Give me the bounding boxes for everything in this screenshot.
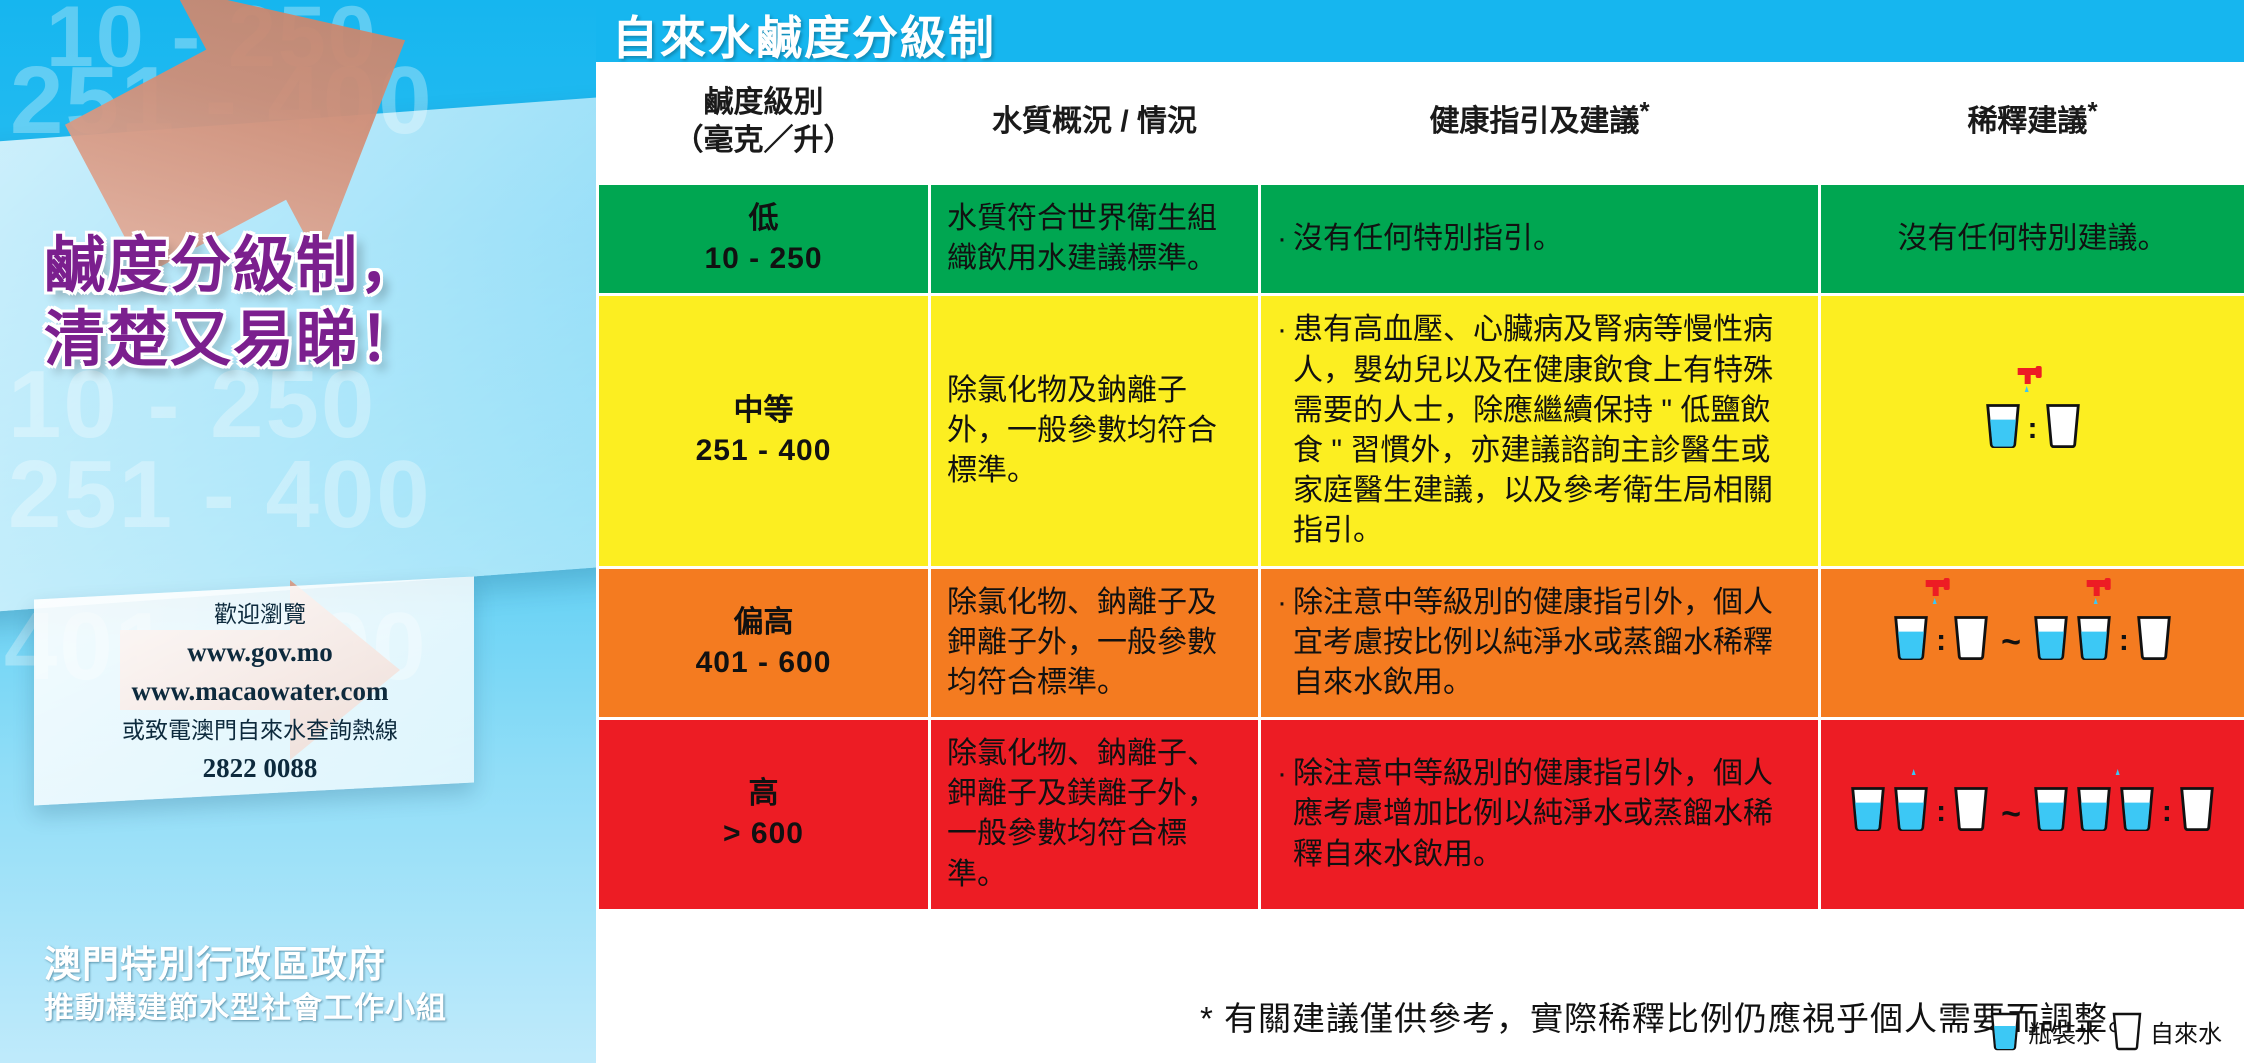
cell-health-low: ·沒有任何特別指引。 (1260, 184, 1820, 295)
ratio-group: : (1891, 614, 1991, 672)
level-name-low: 低 (615, 199, 912, 239)
welcome-label: 歡迎瀏覽 (60, 598, 460, 631)
ratio-group: : (2031, 614, 2174, 672)
legend: 瓶裝水 自來水 (1988, 1011, 2222, 1051)
title-bar: 自來水鹹度分級制 (596, 0, 2244, 62)
ratio-group: : (2031, 785, 2217, 843)
header-health: 健康指引及建議* (1260, 62, 1820, 184)
bullet-marker: · (1277, 754, 1293, 794)
left-panel: 10 - 250 251 - 400 10 - 250 251 - 400 40… (0, 0, 612, 1063)
bottled-water-cup-icon (1848, 785, 1888, 832)
cell-quality-very-high: 除氯化物、鈉離子、鉀離子及鎂離子外，一般參數均符合標準。 (930, 719, 1260, 911)
legend-tap: 自來水 (2110, 1011, 2222, 1051)
header-quality: 水質概況 / 情況 (930, 62, 1260, 184)
level-name-high: 偏高 (615, 603, 912, 643)
cell-dilution-medium: : (1820, 295, 2244, 567)
table-row: 偏高 401 - 600 除氯化物、鈉離子及鉀離子外，一般參數均符合標準。 ·除… (598, 567, 2244, 719)
tap-water-cup-icon (1951, 785, 1991, 832)
header-health-asterisk: * (1639, 96, 1649, 126)
website-gov-mo[interactable]: www.gov.mo (60, 633, 460, 672)
ratio-separator: ~ (1997, 792, 2025, 838)
faucet-icon (1900, 745, 1946, 785)
faucet-icon-wrap (1922, 574, 1968, 625)
health-text-medium: 患有高血壓、心臟病及腎病等慢性病人，嬰幼兒以及在健康飲食上有特殊需要的人士，除應… (1293, 310, 1800, 551)
level-name-very-high: 高 (615, 774, 912, 814)
legend-bottled: 瓶裝水 (1988, 1011, 2100, 1051)
faucet-icon (2083, 574, 2129, 614)
faucet-icon-wrap (2083, 574, 2129, 625)
level-range-high: 401 - 600 (615, 643, 912, 683)
faucet-icon-wrap (1900, 745, 1946, 796)
table-row: 中等 251 - 400 除氯化物及鈉離子外，一般參數均符合標準。 ·患有高血壓… (598, 295, 2244, 567)
ratio-colon: : (1934, 792, 1948, 832)
ratio-colon: : (1934, 621, 1948, 661)
table-row: 高 > 600 除氯化物、鈉離子、鉀離子及鎂離子外，一般參數均符合標準。 ·除注… (598, 719, 2244, 911)
header-health-label: 健康指引及建議 (1429, 105, 1639, 138)
government-footer: 澳門特別行政區政府 推動構建節水型社會工作小組 (44, 941, 447, 1029)
faucet-icon (2105, 745, 2151, 785)
table-row: 低 10 - 250 水質符合世界衛生組織飲用水建議標準。 ·沒有任何特別指引。… (598, 184, 2244, 295)
tap-water-cup-icon (2177, 785, 2217, 832)
poster-root: 10 - 250 251 - 400 10 - 250 251 - 400 40… (0, 0, 2244, 1063)
cell-level-very-high: 高 > 600 (598, 719, 930, 911)
left-headline: 鹹度分級制， 清楚又易睇！ (44, 228, 584, 377)
ratio-colon: : (2160, 792, 2174, 832)
gov-line-1: 澳門特別行政區政府 (44, 941, 447, 990)
faucet-icon-wrap (2013, 362, 2059, 413)
tap-water-cup-icon (2110, 1011, 2144, 1051)
cell-dilution-high: :~: (1820, 567, 2244, 719)
ratio-group: : (1983, 402, 2083, 460)
info-text-block: 歡迎瀏覽 www.gov.mo www.macaowater.com 或致電澳門… (60, 598, 460, 788)
cell-quality-medium: 除氯化物及鈉離子外，一般參數均符合標準。 (930, 295, 1260, 567)
headline-line-2: 清楚又易睇！ (44, 302, 584, 376)
bottled-water-cup-icon (1988, 1011, 2022, 1051)
salinity-classification-table: 鹹度級別 （毫克／升） 水質概況 / 情況 健康指引及建議* 稀釋建議* (596, 62, 2244, 912)
cell-dilution-very-high: :~: (1820, 719, 2244, 911)
page-title: 自來水鹹度分級制 (612, 2, 996, 68)
level-range-medium: 251 - 400 (615, 431, 912, 471)
legend-tap-label: 自來水 (2150, 1014, 2222, 1049)
cell-health-very-high: ·除注意中等級別的健康指引外，個人應考慮增加比例以純淨水或蒸餾水稀釋自來水飲用。 (1260, 719, 1820, 911)
table-body: 低 10 - 250 水質符合世界衛生組織飲用水建議標準。 ·沒有任何特別指引。… (598, 184, 2244, 911)
tap-water-cup-icon (2134, 614, 2174, 661)
bullet-marker: · (1277, 310, 1293, 350)
cell-level-high: 偏高 401 - 600 (598, 567, 930, 719)
header-level-line2: （毫克／升） (674, 124, 854, 157)
faucet-icon (1922, 574, 1968, 614)
gov-line-2: 推動構建節水型社會工作小組 (44, 989, 447, 1029)
ratio-colon: : (2026, 409, 2040, 449)
header-level: 鹹度級別 （毫克／升） (598, 62, 930, 184)
cell-dilution-low: 沒有任何特別建議。 (1820, 184, 2244, 295)
cell-quality-high: 除氯化物、鈉離子及鉀離子外，一般參數均符合標準。 (930, 567, 1260, 719)
health-text-low: 沒有任何特別指引。 (1293, 219, 1800, 259)
hotline-number[interactable]: 2822 0088 (60, 749, 460, 788)
faucet-icon-wrap (2105, 745, 2151, 796)
cell-level-low: 低 10 - 250 (598, 184, 930, 295)
header-dilution-asterisk: * (2087, 96, 2097, 126)
website-macaowater[interactable]: www.macaowater.com (60, 672, 460, 711)
cell-level-medium: 中等 251 - 400 (598, 295, 930, 567)
header-dilution: 稀釋建議* (1820, 62, 2244, 184)
health-text-very-high: 除注意中等級別的健康指引外，個人應考慮增加比例以純淨水或蒸餾水稀釋自來水飲用。 (1293, 754, 1800, 875)
dilution-ratio-high: :~: (1837, 614, 2228, 672)
legend-bottled-label: 瓶裝水 (2028, 1014, 2100, 1049)
table-head: 鹹度級別 （毫克／升） 水質概況 / 情況 健康指引及建議* 稀釋建議* (598, 62, 2244, 184)
headline-line-1: 鹹度分級制， (44, 228, 584, 302)
level-range-low: 10 - 250 (615, 239, 912, 279)
dilution-text-low: 沒有任何特別建議。 (1898, 222, 2168, 255)
table-wrapper: 鹹度級別 （毫克／升） 水質概況 / 情況 健康指引及建議* 稀釋建議* (596, 62, 2244, 1063)
ratio-group: : (1848, 785, 1991, 843)
dilution-ratio-very-high: :~: (1837, 785, 2228, 843)
cell-health-high: ·除注意中等級別的健康指引外，個人宜考慮按比例以純淨水或蒸餾水稀釋自來水飲用。 (1260, 567, 1820, 719)
bullet-marker: · (1277, 219, 1293, 259)
ratio-colon: : (2117, 621, 2131, 661)
ghost-number-1: 10 - 250 (46, 0, 378, 87)
header-dilution-label: 稀釋建議 (1967, 105, 2087, 138)
faucet-icon (2013, 362, 2059, 402)
bullet-marker: · (1277, 583, 1293, 623)
hotline-label: 或致電澳門自來水查詢熱線 (60, 714, 460, 747)
level-range-very-high: > 600 (615, 814, 912, 854)
bottled-water-cup-icon (2031, 614, 2071, 661)
health-text-high: 除注意中等級別的健康指引外，個人宜考慮按比例以純淨水或蒸餾水稀釋自來水飲用。 (1293, 583, 1800, 704)
cell-health-medium: ·患有高血壓、心臟病及腎病等慢性病人，嬰幼兒以及在健康飲食上有特殊需要的人士，除… (1260, 295, 1820, 567)
cell-quality-low: 水質符合世界衛生組織飲用水建議標準。 (930, 184, 1260, 295)
bottled-water-cup-icon (2031, 785, 2071, 832)
header-level-line1: 鹹度級別 (704, 86, 824, 119)
ratio-separator: ~ (1997, 620, 2025, 666)
header-row: 鹹度級別 （毫克／升） 水質概況 / 情況 健康指引及建議* 稀釋建議* (598, 62, 2244, 184)
dilution-ratio-medium: : (1837, 402, 2228, 460)
level-name-medium: 中等 (615, 391, 912, 431)
